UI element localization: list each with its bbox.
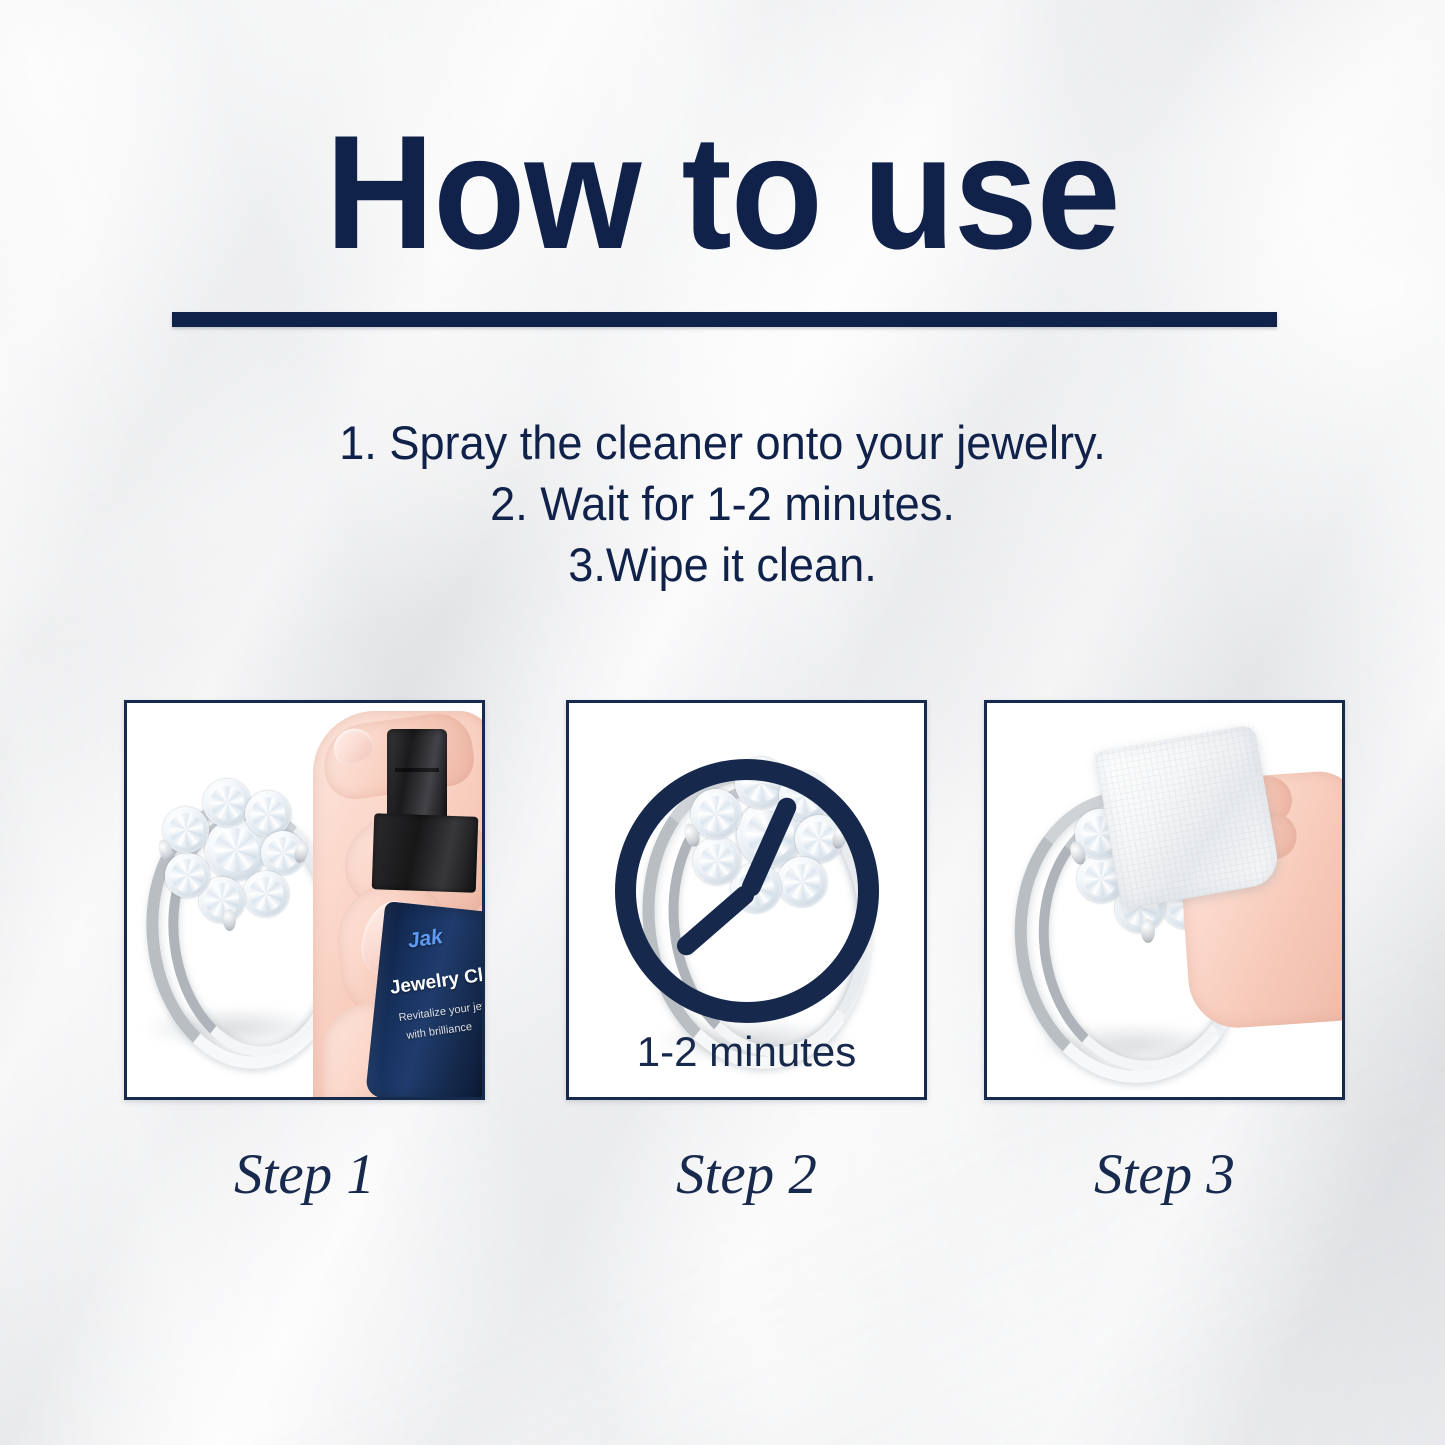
step-3-image-panel <box>984 700 1345 1100</box>
step-3-caption: Step 3 <box>984 1146 1345 1203</box>
step-1-caption: Step 1 <box>124 1146 485 1203</box>
step-panels: Jak Jewelry Clea Revitalize your jew wit… <box>0 700 1445 1102</box>
spray-bottle: Jak Jewelry Clea Revitalize your jew wit… <box>363 727 482 1097</box>
bottle-collar <box>372 813 479 893</box>
step-2-image-panel: 1-2 minutes <box>566 700 927 1100</box>
bottle-brand-label: Jak <box>406 925 444 954</box>
bottle-body: Jak Jewelry Clea Revitalize your jew wit… <box>365 901 482 1097</box>
instruction-line-2: 2. Wait for 1-2 minutes. <box>29 473 1416 534</box>
instruction-line-1: 1. Spray the cleaner onto your jewelry. <box>29 412 1416 473</box>
bottle-tagline-2: with brilliance <box>406 1021 473 1042</box>
step-1-image-panel: Jak Jewelry Clea Revitalize your jew wit… <box>124 700 485 1100</box>
title-underline-rule <box>172 312 1277 327</box>
page-title: How to use <box>51 108 1395 278</box>
cloth-texture <box>1094 724 1281 910</box>
instruction-line-3: 3.Wipe it clean. <box>29 534 1416 595</box>
bottle-product-name: Jewelry Clea <box>389 962 482 1000</box>
wait-duration-label: 1-2 minutes <box>569 1028 924 1076</box>
bottle-pump-head <box>387 729 447 823</box>
infographic-page: How to use 1. Spray the cleaner onto you… <box>0 0 1445 1445</box>
step-2-caption: Step 2 <box>566 1146 927 1203</box>
cleaning-cloth <box>1094 724 1281 910</box>
clock-icon <box>615 759 879 1023</box>
instruction-list: 1. Spray the cleaner onto your jewelry. … <box>29 412 1416 595</box>
